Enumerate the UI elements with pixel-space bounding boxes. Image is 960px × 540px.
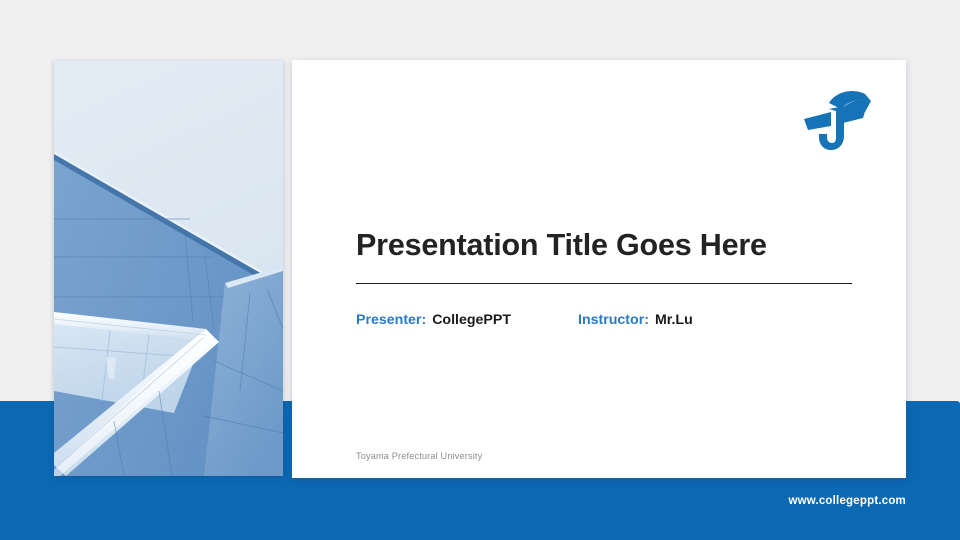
- slide-root: www.collegeppt.com: [0, 0, 960, 540]
- toyama-logo-icon: [799, 86, 875, 152]
- cover-photo: [54, 61, 283, 476]
- university-logo: [799, 86, 875, 152]
- presenter-value: CollegePPT: [432, 312, 511, 328]
- instructor-field: Instructor: Mr.Lu: [578, 312, 693, 328]
- website-url: www.collegeppt.com: [788, 495, 906, 507]
- instructor-label: Instructor:: [578, 312, 649, 328]
- instructor-value: Mr.Lu: [655, 312, 693, 328]
- content-card: Presentation Title Goes Here Presenter: …: [292, 60, 906, 478]
- title-divider: [356, 283, 852, 284]
- meta-row: Presenter: CollegePPT Instructor: Mr.Lu: [356, 312, 693, 328]
- university-name: Toyama Prefectural University: [356, 451, 482, 461]
- title-block: Presentation Title Goes Here: [356, 228, 854, 284]
- presenter-label: Presenter:: [356, 312, 426, 328]
- architectural-photo-graphic: [54, 61, 283, 476]
- page-title: Presentation Title Goes Here: [356, 228, 854, 262]
- presenter-field: Presenter: CollegePPT: [356, 312, 578, 328]
